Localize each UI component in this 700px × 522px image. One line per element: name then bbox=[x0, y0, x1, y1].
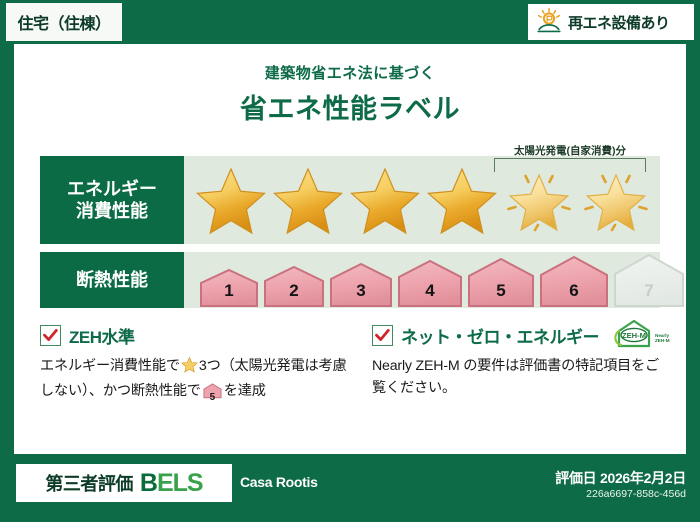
third-party-eval-label: 第三者評価 bbox=[45, 470, 133, 496]
star-solar bbox=[577, 164, 654, 236]
insulation-level-house: 2 bbox=[262, 265, 326, 308]
insulation-level-group: 1 2 3 bbox=[198, 252, 668, 308]
bels-certification-chip: 第三者評価 BELS bbox=[16, 464, 232, 502]
red-check-icon bbox=[40, 325, 61, 346]
star-rating-group bbox=[192, 164, 654, 236]
insulation-performance-row: 断熱性能 bbox=[40, 252, 660, 308]
svg-text:ZEH-M: ZEH-M bbox=[655, 338, 670, 343]
insulation-label: 断熱性能 bbox=[76, 269, 148, 292]
star-solar bbox=[500, 164, 577, 236]
housing-type-label: 住宅（住棟） bbox=[17, 10, 110, 34]
star-filled bbox=[423, 164, 500, 236]
bels-logo-els: ELS bbox=[157, 469, 203, 497]
note-header: ネット・ゼロ・エネルギー ZEH-M Nearly ZEH-M bbox=[372, 322, 660, 348]
renewable-badge-label: 再エネ設備あり bbox=[568, 12, 670, 33]
label-card: 建築物省エネ法に基づく 省エネ性能ラベル エネルギー 消費性能 bbox=[14, 44, 686, 454]
title-block: 建築物省エネ法に基づく 省エネ性能ラベル bbox=[14, 62, 686, 126]
svg-text:ZEH-M: ZEH-M bbox=[622, 330, 646, 339]
evaluation-id: 226a6697-858c-456d bbox=[586, 488, 686, 500]
note-header: ZEH水準 bbox=[40, 322, 350, 348]
solar-portion-bracket bbox=[494, 158, 646, 172]
title-subtitle: 建築物省エネ法に基づく bbox=[14, 62, 686, 83]
evaluation-date: 評価日 2026年2月2日 bbox=[555, 468, 686, 488]
bels-logo: BELS bbox=[140, 469, 203, 498]
star-badge-icon bbox=[181, 361, 198, 377]
notes-section: ZEH水準 エネルギー消費性能で3つ（太陽光発電は考慮しない）、かつ断熱性能で5… bbox=[40, 322, 660, 440]
footer-bar: 第三者評価 BELS Casa Rootis 評価日 2026年2月2日 226… bbox=[0, 454, 700, 522]
house-badge-number: 5 bbox=[203, 390, 222, 406]
insulation-level-house: 3 bbox=[328, 262, 394, 308]
housing-type-chip: 住宅（住棟） bbox=[6, 3, 122, 41]
note-body: Nearly ZEH-M の要件は評価書の特記項目をご覧ください。 bbox=[372, 355, 660, 399]
energy-label-line1: エネルギー bbox=[67, 178, 157, 201]
insulation-level-house: 6 bbox=[538, 255, 610, 308]
renewable-equipment-badge: 再エネ設備あり bbox=[528, 4, 694, 40]
red-check-icon bbox=[372, 325, 393, 346]
note-title: ネット・ゼロ・エネルギー bbox=[401, 323, 599, 348]
note-title: ZEH水準 bbox=[69, 323, 135, 348]
energy-performance-label-box: エネルギー 消費性能 bbox=[40, 156, 184, 244]
title-main: 省エネ性能ラベル bbox=[14, 87, 686, 126]
insulation-level-house: 1 bbox=[198, 268, 260, 308]
bels-logo-b: B bbox=[140, 469, 157, 497]
insulation-level-house: 4 bbox=[396, 259, 464, 308]
star-filled bbox=[192, 164, 269, 236]
energy-performance-row: エネルギー 消費性能 bbox=[40, 156, 660, 244]
note-body-part3: を達成 bbox=[224, 383, 266, 399]
solar-sun-icon bbox=[536, 7, 562, 38]
house-badge-icon: 5 bbox=[203, 383, 222, 406]
star-filled bbox=[269, 164, 346, 236]
note-zeh-standard: ZEH水準 エネルギー消費性能で3つ（太陽光発電は考慮しない）、かつ断熱性能で5… bbox=[40, 322, 350, 440]
energy-label-line2: 消費性能 bbox=[76, 200, 148, 223]
solar-portion-caption: 太陽光発電(自家消費)分 bbox=[484, 143, 656, 158]
insulation-level-panel: 1 2 3 bbox=[184, 252, 660, 308]
note-net-zero-energy: ネット・ゼロ・エネルギー ZEH-M Nearly ZEH-M Nearly Z… bbox=[350, 322, 660, 440]
insulation-level-house-inactive: 7 bbox=[612, 253, 686, 308]
insulation-level-house: 5 bbox=[466, 257, 536, 308]
insulation-performance-label-box: 断熱性能 bbox=[40, 252, 184, 308]
note-body: エネルギー消費性能で3つ（太陽光発電は考慮しない）、かつ断熱性能で5を達成 bbox=[40, 355, 350, 406]
project-name: Casa Rootis bbox=[240, 474, 318, 490]
star-filled bbox=[346, 164, 423, 236]
note-body-part1: エネルギー消費性能で bbox=[40, 358, 180, 374]
zeh-m-nearly-logo: ZEH-M Nearly ZEH-M bbox=[613, 318, 675, 353]
energy-star-panel: 太陽光発電(自家消費)分 bbox=[184, 156, 660, 244]
top-bar: 住宅（住棟） 再エネ設備あり bbox=[0, 0, 700, 44]
energy-performance-label: 住宅（住棟） 再エネ設備あり bbox=[0, 0, 700, 522]
